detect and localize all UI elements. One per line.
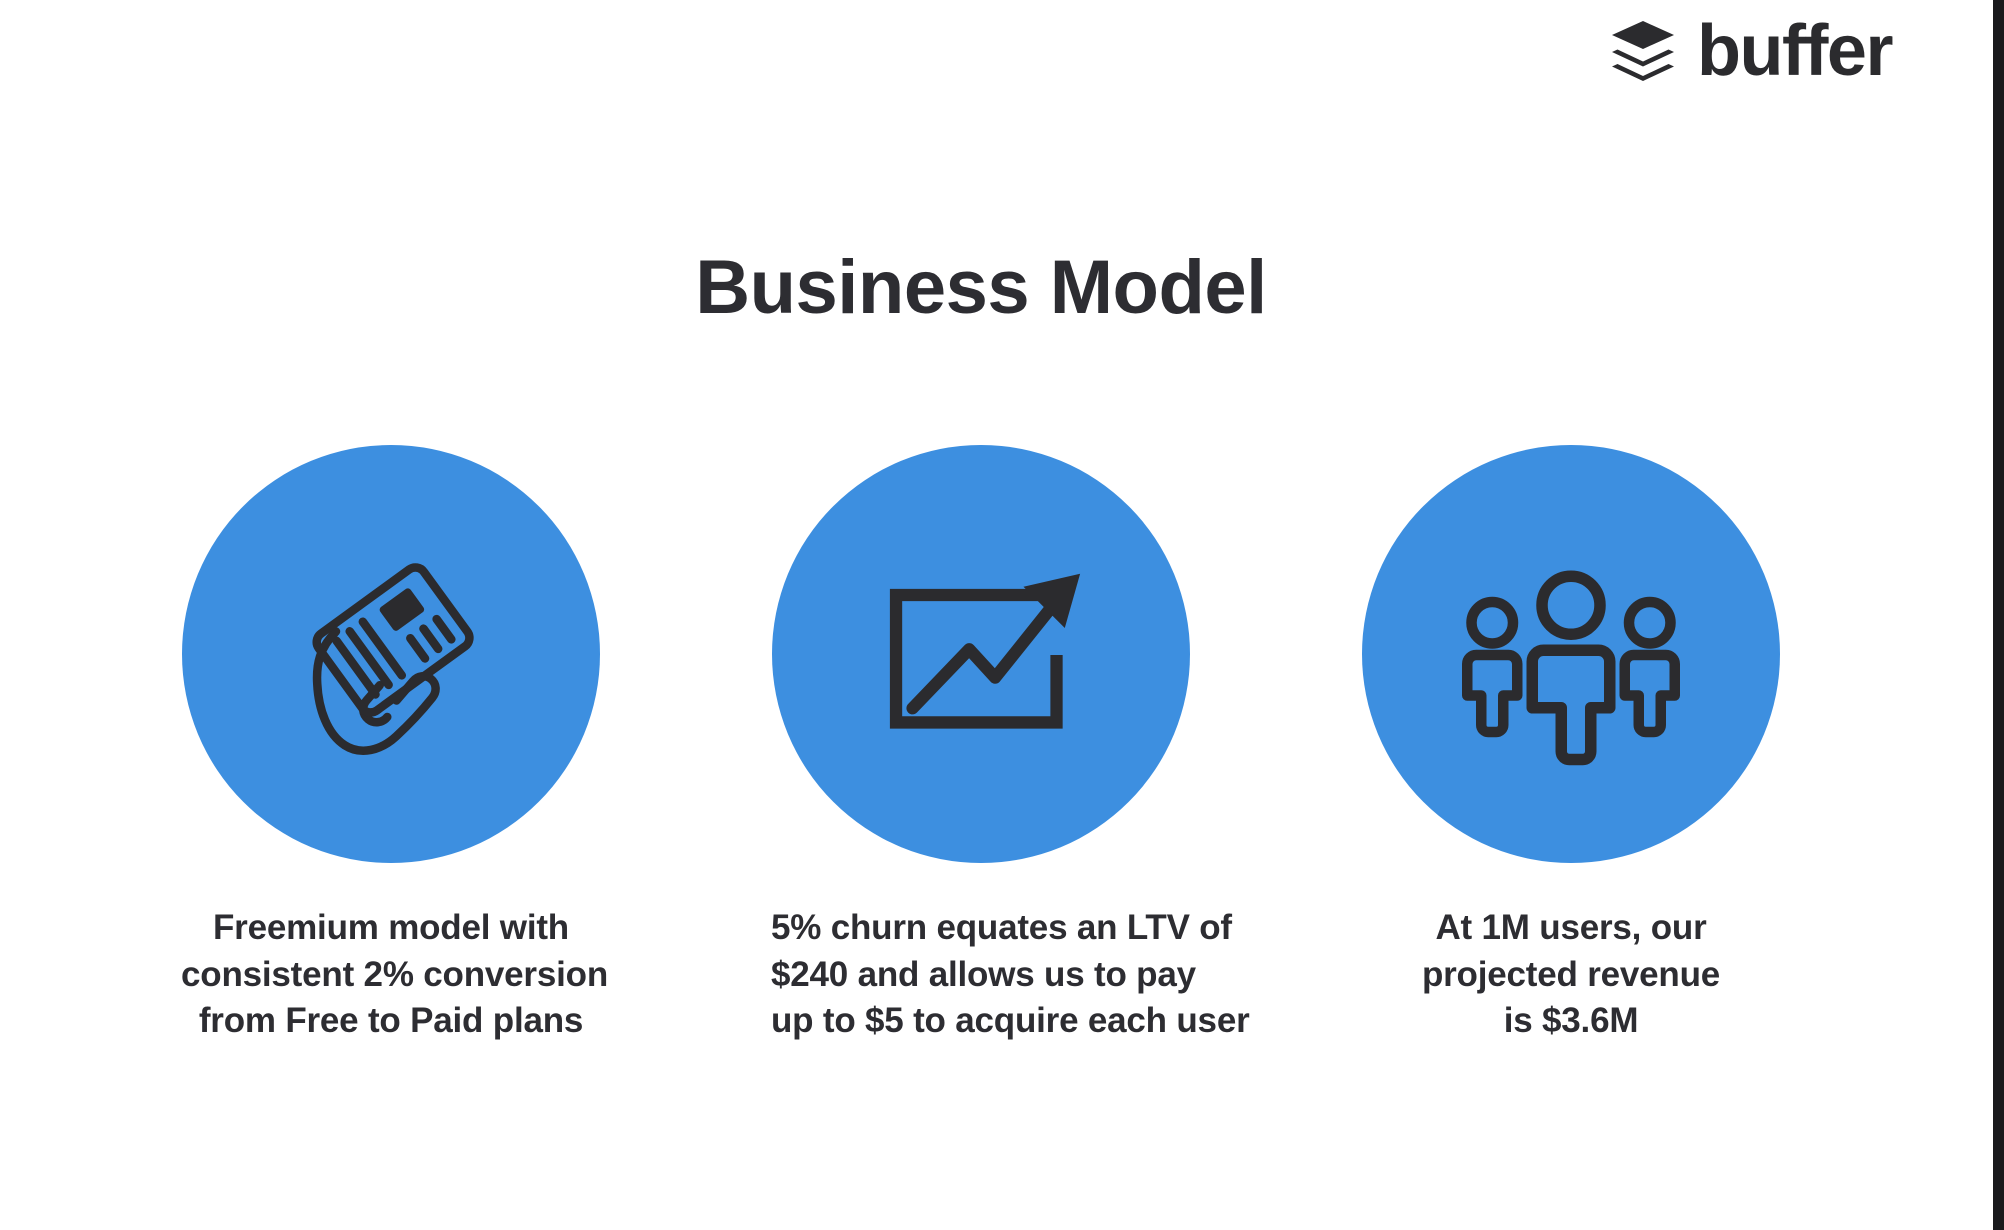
column-users-revenue: At 1M users, our projected revenue is $3… (1362, 445, 1780, 1045)
buffer-wordmark: buffer (1697, 15, 1892, 87)
business-model-columns: Freemium model with consistent 2% conver… (0, 445, 1962, 1045)
caption-line: from Free to Paid plans (181, 998, 601, 1045)
slide-right-edge-band (1993, 0, 2004, 1230)
growth-chart-arrow-icon (863, 536, 1099, 772)
caption-line: At 1M users, our (1361, 905, 1781, 952)
caption-churn-ltv: 5% churn equates an LTV of $240 and allo… (771, 905, 1191, 1045)
group-of-people-icon (1446, 529, 1696, 779)
caption-line: consistent 2% conversion (181, 952, 601, 999)
column-freemium: Freemium model with consistent 2% conver… (182, 445, 600, 1045)
caption-line: Freemium model with (181, 905, 601, 952)
caption-line: is $3.6M (1361, 998, 1781, 1045)
caption-line: 5% churn equates an LTV of (771, 905, 1191, 952)
hand-holding-credit-card-icon (266, 529, 516, 779)
column-churn-ltv: 5% churn equates an LTV of $240 and allo… (772, 445, 1190, 1045)
slide-canvas: buffer Business Model (0, 0, 2004, 1230)
page-title: Business Model (0, 250, 1962, 326)
icon-badge-churn-ltv (772, 445, 1190, 863)
caption-line: $240 and allows us to pay (771, 952, 1191, 999)
icon-badge-users-revenue (1362, 445, 1780, 863)
caption-line: projected revenue (1361, 952, 1781, 999)
caption-freemium: Freemium model with consistent 2% conver… (181, 905, 601, 1045)
stacked-layers-icon (1611, 20, 1675, 82)
caption-line: up to $5 to acquire each user (771, 998, 1191, 1045)
icon-badge-freemium (182, 445, 600, 863)
caption-users-revenue: At 1M users, our projected revenue is $3… (1361, 905, 1781, 1045)
buffer-logo: buffer (1611, 12, 1892, 90)
